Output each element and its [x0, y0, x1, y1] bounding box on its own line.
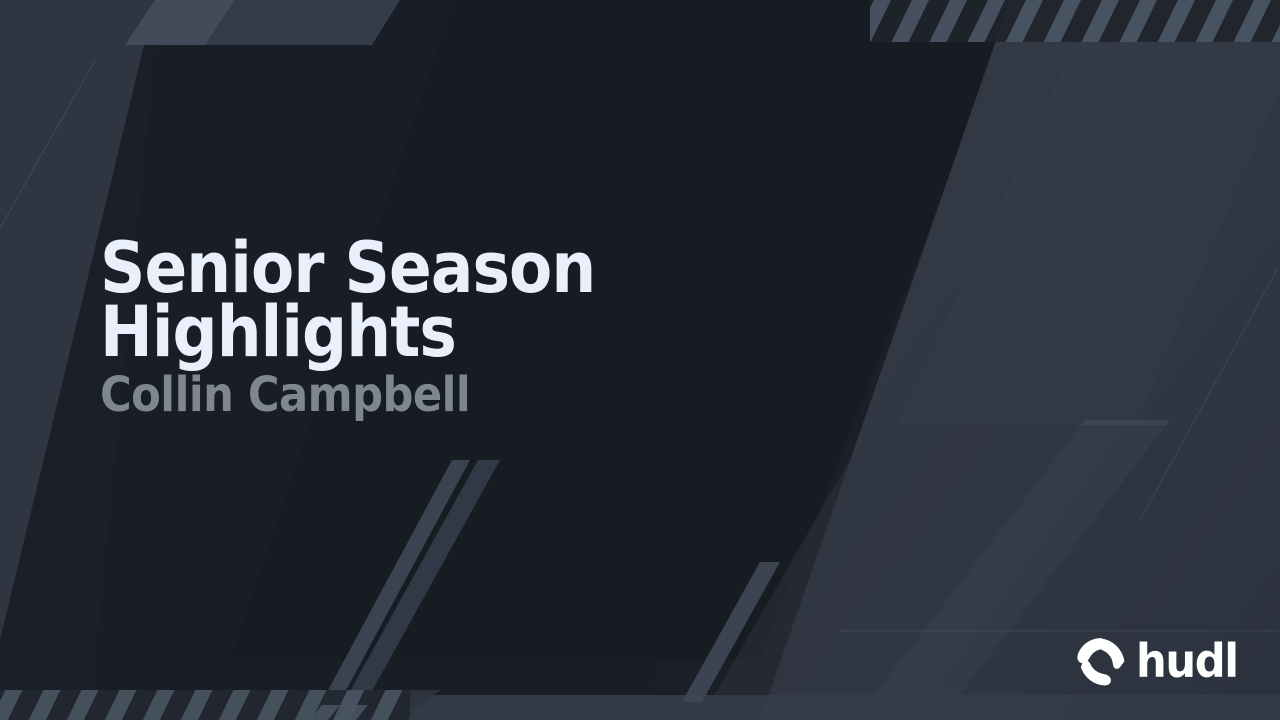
hudl-logo: hudl	[1075, 636, 1244, 688]
title-line-2: Highlights	[100, 300, 730, 364]
hudl-triquetra-icon	[1075, 636, 1127, 688]
athlete-name: Collin Campbell	[100, 371, 730, 419]
hudl-wordmark: hudl	[1136, 638, 1238, 687]
highlight-title-card: Senior Season Highlights Collin Campbell…	[0, 0, 1280, 720]
title-block: Senior Season Highlights Collin Campbell	[100, 236, 800, 419]
bg-notch-stripe-b	[205, 0, 400, 45]
